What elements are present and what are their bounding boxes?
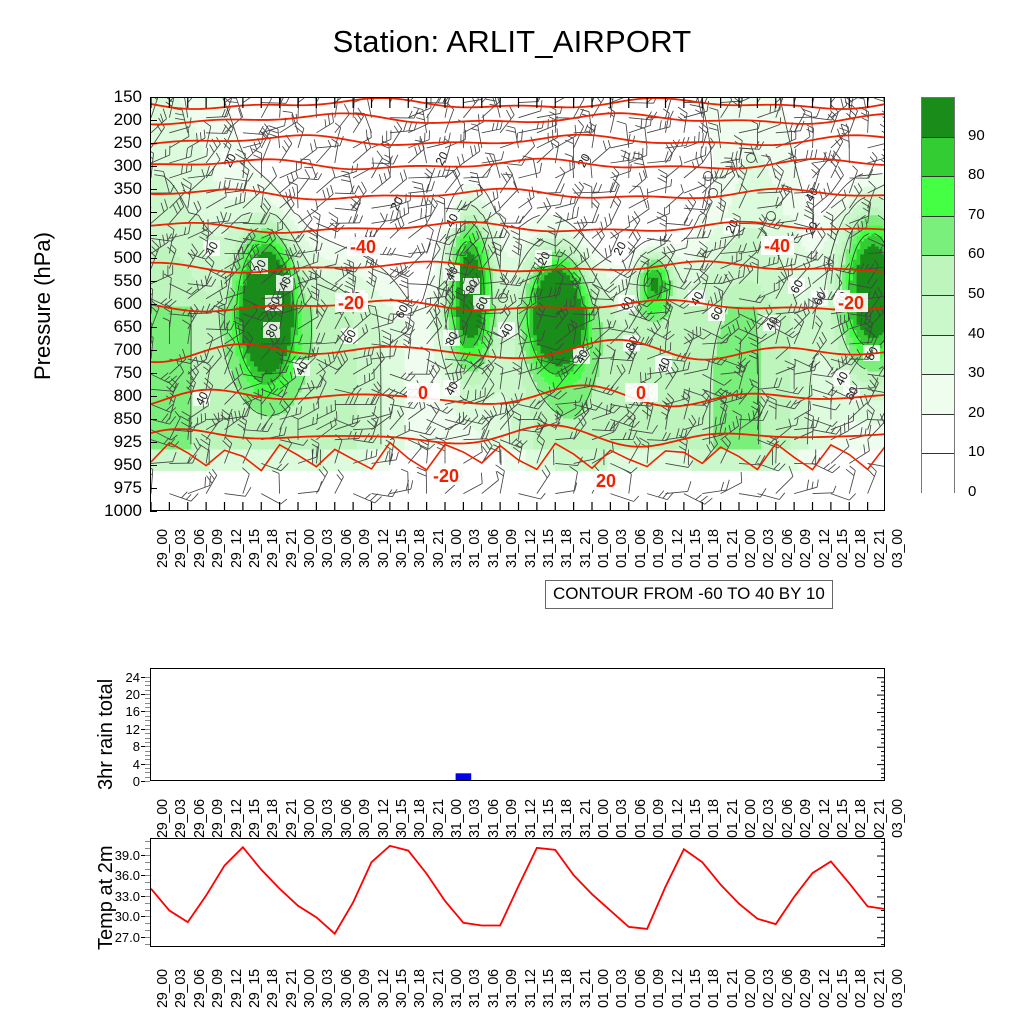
temp-tick-label: 36.0 [88, 868, 140, 883]
x-axis-tick-label: 02_12 [817, 799, 833, 838]
pressure-tick-mark [150, 327, 157, 328]
pressure-tick-label: 400 [84, 203, 142, 220]
x-axis-tick-label: 29_03 [173, 799, 189, 838]
x-axis-tick-label: 02_18 [853, 799, 869, 838]
x-axis-tick-label: 01_06 [633, 799, 649, 838]
pressure-tick-label: 800 [84, 387, 142, 404]
temp-minor-tick [145, 896, 150, 897]
contour-note: CONTOUR FROM -60 TO 40 BY 10 [545, 580, 833, 609]
x-axis-tick-label: 01_18 [706, 799, 722, 838]
x-axis-tick-label: 29_12 [229, 799, 245, 838]
pressure-tick-label: 600 [84, 295, 142, 312]
colorbar-tick-label: 0 [968, 483, 976, 500]
rain-minor-tick [145, 707, 150, 708]
temp-minor-tick [145, 903, 150, 904]
rain-bars [456, 773, 472, 781]
pressure-tick-mark [150, 97, 157, 98]
pressure-tick-mark [150, 511, 157, 512]
x-axis-tick-label: 31_15 [541, 799, 557, 838]
x-axis-tick-label: 29_09 [210, 969, 226, 1008]
x-axis-tick-label: 30_18 [412, 529, 428, 568]
x-axis-tick-label: 02_09 [798, 799, 814, 838]
x-axis-tick-label: 02_09 [798, 529, 814, 568]
rain-minor-tick [145, 746, 150, 747]
x-axis-tick-label: 01_06 [633, 529, 649, 568]
temp-minor-tick [145, 869, 150, 870]
temp-minor-tick [145, 910, 150, 911]
pressure-tick-mark [150, 350, 157, 351]
x-axis-tick-label: 31_15 [541, 969, 557, 1008]
x-axis-tick-label: 30_00 [302, 529, 318, 568]
x-axis-tick-label: 30_21 [431, 529, 447, 568]
x-axis-tick-label: 31_09 [504, 969, 520, 1008]
rain-minor-tick [145, 755, 150, 756]
rain-minor-tick [145, 781, 150, 782]
x-axis-tick-label: 02_06 [780, 529, 796, 568]
x-axis-tick-label: 01_21 [725, 529, 741, 568]
rain-canvas [151, 669, 885, 781]
x-axis-tick-label: 29_18 [265, 969, 281, 1008]
rain-tick-label: 8 [100, 739, 140, 754]
temp-plot[interactable] [150, 838, 885, 947]
rain-tick-label: 12 [100, 722, 140, 737]
rain-minor-tick [145, 759, 150, 760]
x-axis-tick-label: 01_15 [688, 529, 704, 568]
x-axis-tick-label: 02_21 [872, 969, 888, 1008]
x-axis-tick-label: 30_06 [339, 799, 355, 838]
rain-minor-tick [145, 777, 150, 778]
x-axis-tick-label: 30_12 [376, 799, 392, 838]
temp-minor-tick [145, 848, 150, 849]
x-axis-tick-label: 31_06 [486, 969, 502, 1008]
rain-minor-tick [145, 751, 150, 752]
pressure-tick-mark [150, 465, 157, 466]
colorbar-tick-label: 70 [968, 206, 985, 223]
colorbar-band [922, 415, 954, 455]
x-axis-tick-label: 02_00 [743, 799, 759, 838]
x-axis-tick-label: 01_09 [651, 969, 667, 1008]
x-axis-tick-label: 29_12 [229, 969, 245, 1008]
temp-minor-tick [145, 937, 150, 938]
pressure-tick-mark [150, 442, 157, 443]
x-axis-tick-label: 29_21 [284, 799, 300, 838]
x-axis-tick-label: 02_06 [780, 799, 796, 838]
x-axis-tick-label: 29_21 [284, 969, 300, 1008]
temp-right-ticks [877, 842, 885, 944]
pressure-tick-label: 700 [84, 341, 142, 358]
x-axis-tick-label: 01_12 [670, 969, 686, 1008]
x-axis-tick-label: 30_03 [320, 969, 336, 1008]
x-axis-tick-label: 29_03 [173, 529, 189, 568]
temp-minor-tick [145, 889, 150, 890]
x-axis-tick-label: 03_00 [890, 799, 906, 838]
temp-tick-label: 39.0 [88, 848, 140, 863]
temp-minor-tick [145, 862, 150, 863]
rain-minor-tick [145, 772, 150, 773]
x-axis-tick-label: 31_12 [523, 969, 539, 1008]
x-axis-tick-label: 30_09 [357, 969, 373, 1008]
x-axis-tick-label: 02_15 [835, 969, 851, 1008]
x-axis-tick-label: 29_06 [192, 529, 208, 568]
rain-minor-tick [145, 733, 150, 734]
x-axis-tick-label: 30_00 [302, 799, 318, 838]
colorbar-tick-label: 30 [968, 364, 985, 381]
x-axis-tick-label: 31_21 [578, 969, 594, 1008]
x-axis-tick-label: 01_12 [670, 799, 686, 838]
pressure-tick-mark [150, 166, 157, 167]
pressure-tick-mark [150, 488, 157, 489]
pressure-tick-label: 1000 [84, 502, 142, 519]
x-axis-tick-label: 29_09 [210, 799, 226, 838]
temp-minor-tick [145, 923, 150, 924]
rain-minor-tick [145, 716, 150, 717]
rain-minor-tick [145, 720, 150, 721]
x-axis-tick-label: 31_09 [504, 529, 520, 568]
x-axis-tick-label: 29_06 [192, 799, 208, 838]
pressure-tick-mark [150, 120, 157, 121]
colorbar-band [922, 256, 954, 296]
rain-minor-tick [145, 725, 150, 726]
pressure-tick-mark [150, 212, 157, 213]
x-axis-tick-label: 29_15 [247, 529, 263, 568]
pressure-tick-mark [150, 258, 157, 259]
pressure-tick-label: 750 [84, 364, 142, 381]
x-axis-tick-label: 30_18 [412, 799, 428, 838]
colorbar-band [922, 454, 954, 494]
cross-section-plot[interactable]: 2020202020202020204040404040404040404040… [150, 97, 885, 511]
rain-tick-label: 0 [100, 774, 140, 789]
temp-minor-tick [145, 855, 150, 856]
colorbar-band [922, 375, 954, 415]
x-axis-tick-label: 30_21 [431, 799, 447, 838]
x-axis-tick-label: 02_00 [743, 529, 759, 568]
x-axis-tick-label: 29_06 [192, 969, 208, 1008]
temp-minor-tick [145, 930, 150, 931]
pressure-tick-label: 350 [84, 180, 142, 197]
x-axis-tick-label: 01_18 [706, 529, 722, 568]
temp-canvas [151, 839, 885, 947]
x-axis-tick-label: 03_00 [890, 969, 906, 1008]
x-axis-tick-label: 31_06 [486, 529, 502, 568]
x-axis-tick-label: 30_21 [431, 969, 447, 1008]
x-axis-tick-label: 02_21 [872, 799, 888, 838]
x-axis-tick-label: 29_03 [173, 969, 189, 1008]
rain-minor-tick [145, 694, 150, 695]
x-axis-tick-label: 30_12 [376, 529, 392, 568]
colorbar-band [922, 217, 954, 257]
x-axis-tick-label: 02_18 [853, 969, 869, 1008]
x-axis-tick-label: 30_09 [357, 799, 373, 838]
x-axis-tick-label: 01_09 [651, 799, 667, 838]
colorbar-tick-label: 60 [968, 245, 985, 262]
x-axis-tick-label: 01_12 [670, 529, 686, 568]
x-axis-tick-label: 30_00 [302, 969, 318, 1008]
x-axis-tick-label: 29_00 [155, 529, 171, 568]
x-axis-tick-label: 03_00 [890, 529, 906, 568]
rain-tick-label: 20 [100, 687, 140, 702]
x-axis-tick-label: 01_03 [614, 969, 630, 1008]
temp-tick-label: 30.0 [88, 909, 140, 924]
rain-tick-label: 4 [100, 757, 140, 772]
pressure-tick-mark [150, 396, 157, 397]
colorbar-tick-label: 90 [968, 127, 985, 144]
pressure-tick-label: 650 [84, 318, 142, 335]
x-axis-tick-label: 29_18 [265, 529, 281, 568]
temp-tick-label: 33.0 [88, 889, 140, 904]
colorbar-band [922, 98, 954, 138]
temp-minor-tick [145, 841, 150, 842]
rain-minor-tick [145, 764, 150, 765]
x-axis-tick-label: 02_12 [817, 529, 833, 568]
x-axis-tick-label: 29_15 [247, 969, 263, 1008]
x-axis-tick-label: 01_00 [596, 799, 612, 838]
pressure-tick-label: 450 [84, 226, 142, 243]
x-axis-tick-label: 02_21 [872, 529, 888, 568]
x-axis-tick-label: 29_21 [284, 529, 300, 568]
colorbar-tick-label: 10 [968, 443, 985, 460]
rain-right-ticks [877, 678, 885, 781]
x-axis-tick-label: 01_00 [596, 529, 612, 568]
colorbar [921, 97, 955, 493]
pressure-tick-label: 200 [84, 111, 142, 128]
x-axis-tick-label: 01_21 [725, 969, 741, 1008]
cross-section-canvas: 2020202020202020204040404040404040404040… [151, 98, 885, 511]
rain-minor-tick [145, 738, 150, 739]
x-axis-tick-label: 31_18 [559, 799, 575, 838]
x-axis-tick-label: 30_03 [320, 799, 336, 838]
rain-minor-tick [145, 698, 150, 699]
x-axis-tick-label: 02_15 [835, 529, 851, 568]
rain-minor-tick [145, 768, 150, 769]
x-axis-tick-label: 30_12 [376, 969, 392, 1008]
x-axis-tick-label: 29_09 [210, 529, 226, 568]
x-axis-tick-label: 02_03 [761, 529, 777, 568]
colorbar-band [922, 336, 954, 376]
x-axis-tick-label: 01_21 [725, 799, 741, 838]
x-axis-tick-label: 01_18 [706, 969, 722, 1008]
page-title: Station: ARLIT_AIRPORT [0, 24, 1024, 60]
x-axis-tick-label: 01_03 [614, 529, 630, 568]
pressure-tick-label: 850 [84, 410, 142, 427]
x-axis-tick-label: 31_00 [449, 529, 465, 568]
pressure-tick-label: 550 [84, 272, 142, 289]
pressure-tick-label: 975 [84, 479, 142, 496]
temp-minor-tick [145, 875, 150, 876]
pressure-tick-mark [150, 419, 157, 420]
rain-minor-tick [145, 703, 150, 704]
x-axis-tick-label: 31_09 [504, 799, 520, 838]
colorbar-tick-label: 50 [968, 285, 985, 302]
pressure-tick-mark [150, 189, 157, 190]
rain-plot[interactable] [150, 668, 885, 781]
pressure-tick-mark [150, 235, 157, 236]
x-axis-tick-label: 02_12 [817, 969, 833, 1008]
x-axis-tick-label: 30_15 [394, 969, 410, 1008]
x-axis-tick-label: 01_15 [688, 799, 704, 838]
temp-tick-label: 27.0 [88, 930, 140, 945]
rain-tick-label: 24 [100, 670, 140, 685]
x-axis-tick-label: 31_00 [449, 799, 465, 838]
x-axis-tick-label: 31_18 [559, 529, 575, 568]
x-axis-tick-label: 31_03 [467, 799, 483, 838]
x-axis-tick-label: 31_12 [523, 799, 539, 838]
x-axis-tick-label: 29_00 [155, 799, 171, 838]
x-axis-tick-label: 31_15 [541, 529, 557, 568]
temp-line [151, 846, 885, 934]
x-axis-tick-label: 31_21 [578, 799, 594, 838]
x-axis-tick-label: 02_18 [853, 529, 869, 568]
x-axis-tick-label: 29_15 [247, 799, 263, 838]
temp-minor-tick [145, 882, 150, 883]
x-axis-tick-label: 31_03 [467, 969, 483, 1008]
x-axis-tick-label: 02_06 [780, 969, 796, 1008]
pressure-tick-mark [150, 281, 157, 282]
x-axis-tick-label: 31_03 [467, 529, 483, 568]
x-axis-tick-label: 30_03 [320, 529, 336, 568]
colorbar-band [922, 138, 954, 178]
x-axis-tick-label: 29_00 [155, 969, 171, 1008]
x-axis-tick-label: 31_00 [449, 969, 465, 1008]
x-axis-tick-label: 31_18 [559, 969, 575, 1008]
x-axis-tick-label: 01_09 [651, 529, 667, 568]
pressure-tick-label: 250 [84, 134, 142, 151]
rain-minor-tick [145, 677, 150, 678]
rain-minor-tick [145, 711, 150, 712]
temp-minor-tick [145, 916, 150, 917]
main-panel-ylabel: Pressure (hPa) [30, 232, 56, 380]
rain-minor-tick [145, 742, 150, 743]
rain-tick-label: 16 [100, 704, 140, 719]
x-axis-tick-label: 02_09 [798, 969, 814, 1008]
x-axis-tick-label: 01_00 [596, 969, 612, 1008]
x-axis-tick-label: 31_06 [486, 799, 502, 838]
x-axis-tick-label: 30_06 [339, 969, 355, 1008]
pressure-tick-label: 925 [84, 433, 142, 450]
pressure-tick-mark [150, 373, 157, 374]
x-axis-tick-label: 30_09 [357, 529, 373, 568]
x-axis-tick-label: 30_15 [394, 799, 410, 838]
x-axis-tick-label: 29_18 [265, 799, 281, 838]
pressure-tick-label: 150 [84, 88, 142, 105]
x-axis-tick-label: 02_00 [743, 969, 759, 1008]
x-axis-tick-label: 01_15 [688, 969, 704, 1008]
pressure-tick-mark [150, 304, 157, 305]
pressure-tick-label: 950 [84, 456, 142, 473]
x-axis-tick-label: 02_03 [761, 969, 777, 1008]
rain-minor-tick [145, 690, 150, 691]
x-axis-tick-label: 02_15 [835, 799, 851, 838]
x-axis-tick-label: 30_15 [394, 529, 410, 568]
x-axis-tick-label: 01_03 [614, 799, 630, 838]
rain-minor-tick [145, 685, 150, 686]
temp-minor-tick [145, 944, 150, 945]
colorbar-tick-label: 80 [968, 166, 985, 183]
rain-minor-tick [145, 681, 150, 682]
colorbar-band [922, 177, 954, 217]
colorbar-tick-label: 40 [968, 325, 985, 342]
x-axis-tick-label: 29_12 [229, 529, 245, 568]
x-axis-tick-label: 30_06 [339, 529, 355, 568]
pressure-tick-label: 500 [84, 249, 142, 266]
pressure-tick-mark [150, 143, 157, 144]
x-axis-tick-label: 30_18 [412, 969, 428, 1008]
colorbar-tick-label: 20 [968, 404, 985, 421]
x-axis-tick-label: 02_03 [761, 799, 777, 838]
colorbar-band [922, 296, 954, 336]
x-axis-tick-label: 31_21 [578, 529, 594, 568]
x-axis-tick-label: 31_12 [523, 529, 539, 568]
pressure-tick-label: 300 [84, 157, 142, 174]
rain-minor-tick [145, 729, 150, 730]
x-axis-tick-label: 01_06 [633, 969, 649, 1008]
